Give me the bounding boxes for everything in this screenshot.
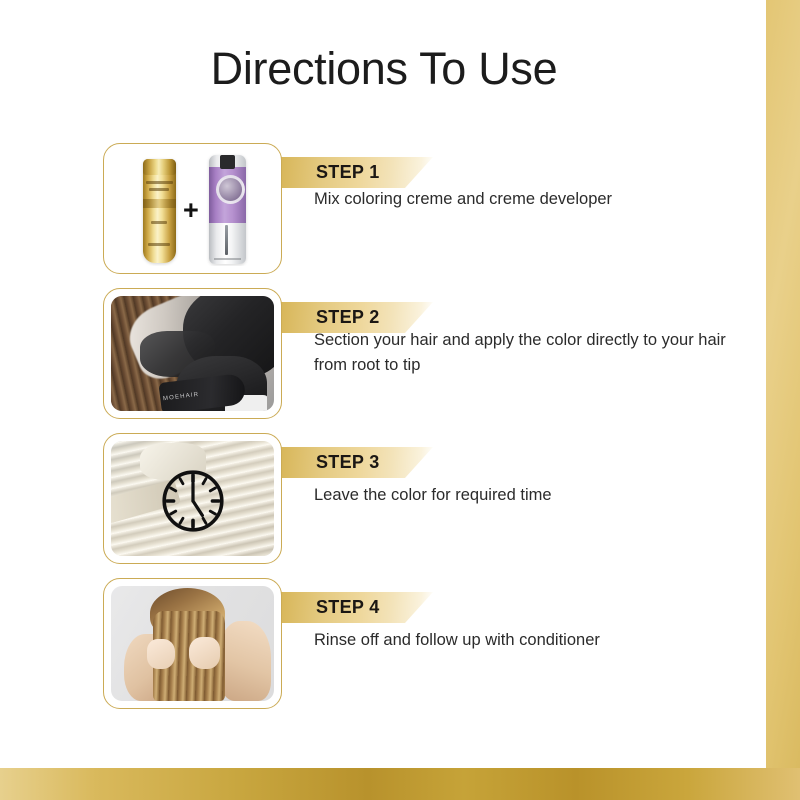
step-image-2: MOEHAIR Black gloved hands applying grey… <box>111 296 274 411</box>
step-badge-label-2: STEP 2 <box>316 302 380 333</box>
bottle-stripe <box>225 225 228 255</box>
tube-band <box>143 199 176 208</box>
step-image-card-1: + Gold coloring creme tube plus purple a… <box>103 143 282 274</box>
step-badge-label-1: STEP 1 <box>316 157 380 188</box>
step-row-1: STEP 1 + <box>0 143 768 276</box>
left-hand <box>147 639 175 669</box>
step-image-card-4: Woman seen from behind running condition… <box>103 578 282 709</box>
product-pair-illustration: + Gold coloring creme tube plus purple a… <box>111 151 274 266</box>
bottle-cap-icon <box>220 155 235 169</box>
tube-text-line <box>148 243 170 246</box>
step-image-1: + Gold coloring creme tube plus purple a… <box>111 151 274 266</box>
bottle-foot <box>214 258 241 260</box>
step-row-4: STEP 4 Woman seen from behind running co… <box>0 578 768 711</box>
conditioner-illustration: Woman seen from behind running condition… <box>111 586 274 701</box>
step-image-3: Light bleached hair with a black outline… <box>111 441 274 556</box>
tube-text-line <box>151 221 167 224</box>
bottle-number-badge <box>216 175 245 204</box>
step-image-4: Woman seen from behind running condition… <box>111 586 274 701</box>
right-arm <box>219 621 271 702</box>
step-badge-ribbon-3: STEP 3 <box>258 447 433 478</box>
creme-developer-bottle-icon <box>209 155 246 264</box>
coloring-creme-tube-icon <box>143 159 176 263</box>
step-description-2: Section your hair and apply the color di… <box>314 328 734 378</box>
step-image-alt-1: Gold coloring creme tube plus purple and… <box>111 151 112 152</box>
step-badge-ribbon-1: STEP 1 <box>258 157 433 188</box>
tube-text-line <box>149 188 169 191</box>
step-description-1: Mix coloring creme and creme developer <box>314 187 734 212</box>
tube-text-line <box>146 181 173 184</box>
step-badge-label-3: STEP 3 <box>316 447 380 478</box>
step-image-card-3: Light bleached hair with a black outline… <box>103 433 282 564</box>
tube-cap <box>143 159 176 175</box>
gold-frame-bottom <box>0 768 800 800</box>
step-badge-label-4: STEP 4 <box>316 592 380 623</box>
right-hand <box>189 637 220 669</box>
step-badge-ribbon-2: STEP 2 <box>258 302 433 333</box>
step-image-alt-4: Woman seen from behind running condition… <box>111 586 112 587</box>
page-title: Directions To Use <box>0 44 768 94</box>
step-row-2: STEP 2 MOEHAIR Black gloved hands applyi… <box>0 288 768 421</box>
directions-to-use-infographic: Directions To Use STEP 1 + <box>0 0 800 800</box>
step-description-4: Rinse off and follow up with conditioner <box>314 628 734 653</box>
clock-icon <box>157 465 229 537</box>
bleached-hair-illustration: Light bleached hair with a black outline… <box>111 441 274 556</box>
step-image-card-2: MOEHAIR Black gloved hands applying grey… <box>103 288 282 419</box>
step-description-3: Leave the color for required time <box>314 483 734 508</box>
step-badge-ribbon-4: STEP 4 <box>258 592 433 623</box>
gloved-hands-illustration: MOEHAIR Black gloved hands applying grey… <box>111 296 274 411</box>
step-row-3: STEP 3 <box>0 433 768 566</box>
plus-icon: + <box>183 197 199 224</box>
gold-frame-right <box>766 0 800 800</box>
